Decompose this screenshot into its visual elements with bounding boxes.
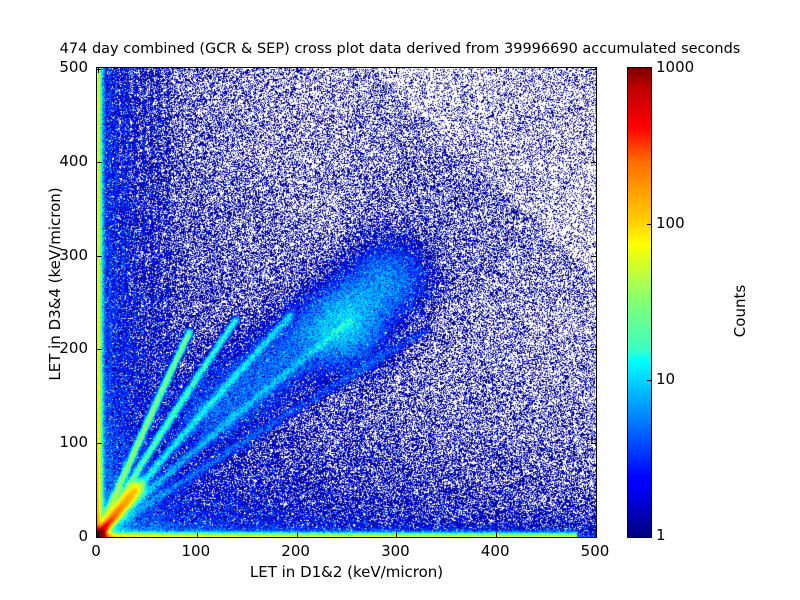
y-tick-200 (591, 349, 596, 350)
x-tick-label-300: 300 (381, 542, 410, 560)
x-tick-300 (396, 532, 397, 537)
y-tick-400 (97, 162, 102, 163)
x-tick-label-0: 0 (91, 542, 101, 560)
y-axis-label: LET in D3&4 (keV/micron) (46, 134, 64, 434)
x-axis-label: LET in D1&2 (keV/micron) (96, 563, 597, 581)
plot-area[interactable] (96, 67, 597, 538)
x-tick-100 (197, 68, 198, 73)
figure-canvas: 474 day combined (GCR & SEP) cross plot … (0, 0, 800, 600)
y-tick-0 (591, 537, 596, 538)
y-tick-0 (97, 537, 102, 538)
y-tick-500 (591, 69, 596, 70)
colorbar[interactable] (627, 67, 652, 538)
x-tick-200 (297, 532, 298, 537)
colorbar-label: Counts (731, 211, 749, 411)
y-tick-500 (97, 69, 102, 70)
y-tick-label-0: 0 (78, 527, 88, 545)
y-tick-label-500: 500 (59, 58, 88, 76)
colorbar-tick-100 (647, 224, 651, 225)
y-tick-100 (97, 443, 102, 444)
colorbar-gradient (628, 68, 651, 537)
colorbar-tick-label-100: 100 (656, 214, 685, 232)
y-tick-100 (591, 443, 596, 444)
y-tick-label-100: 100 (59, 433, 88, 451)
x-tick-100 (197, 532, 198, 537)
y-tick-200 (97, 349, 102, 350)
x-tick-label-200: 200 (281, 542, 310, 560)
y-tick-300 (591, 256, 596, 257)
title-line-1: 474 day combined (GCR & SEP) cross plot … (0, 41, 800, 59)
colorbar-tick-label-1: 1 (656, 526, 666, 544)
x-tick-400 (496, 68, 497, 73)
colorbar-tick-10 (647, 380, 651, 381)
x-tick-label-500: 500 (581, 542, 610, 560)
x-tick-300 (396, 68, 397, 73)
heatmap-canvas (97, 68, 596, 537)
y-tick-400 (591, 162, 596, 163)
x-tick-label-400: 400 (481, 542, 510, 560)
colorbar-tick-label-1000: 1000 (656, 58, 694, 76)
y-tick-300 (97, 256, 102, 257)
x-tick-400 (496, 532, 497, 537)
colorbar-tick-label-10: 10 (656, 370, 675, 388)
x-tick-label-100: 100 (181, 542, 210, 560)
x-tick-200 (297, 68, 298, 73)
